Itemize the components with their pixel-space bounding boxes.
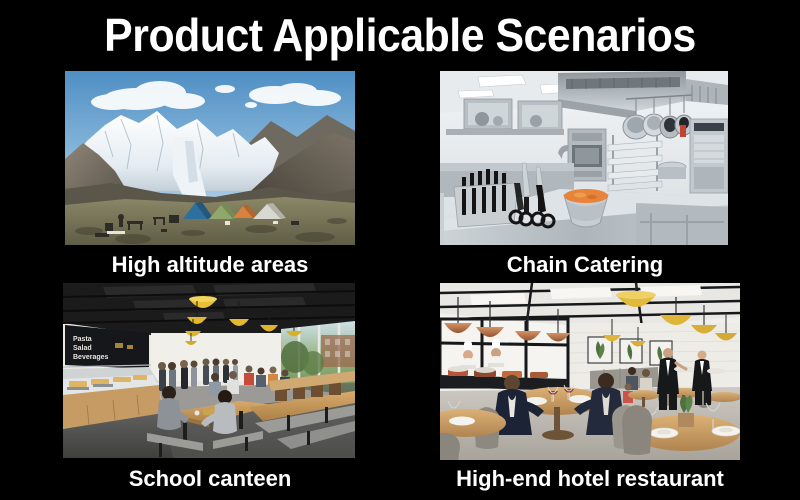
- hotel-restaurant-illustration: [440, 283, 740, 460]
- scenario-image-school-canteen: Pasta Salad Beverages: [63, 283, 355, 458]
- page-title: Product Applicable Scenarios: [28, 8, 772, 62]
- slide-canvas: Product Applicable Scenarios: [0, 0, 800, 500]
- commercial-kitchen-illustration: [440, 71, 728, 245]
- scenario-caption-high-end-hotel-restaurant: High-end hotel restaurant: [415, 466, 765, 492]
- scenario-caption-school-canteen: School canteen: [45, 466, 375, 492]
- scenario-image-high-end-hotel-restaurant: [440, 283, 740, 460]
- scenario-image-chain-catering: [440, 71, 728, 245]
- scenario-caption-chain-catering: Chain Catering: [425, 252, 745, 278]
- scenario-image-high-altitude-areas: [65, 71, 355, 245]
- school-canteen-illustration: Pasta Salad Beverages: [63, 283, 355, 458]
- menu-line-3: Beverages: [73, 354, 109, 361]
- mountain-scene-illustration: [65, 71, 355, 245]
- menu-line-2: Salad: [73, 345, 92, 352]
- menu-line-1: Pasta: [73, 336, 92, 343]
- scenario-caption-high-altitude-areas: High altitude areas: [45, 252, 375, 278]
- wall-plant-frames: [588, 337, 672, 365]
